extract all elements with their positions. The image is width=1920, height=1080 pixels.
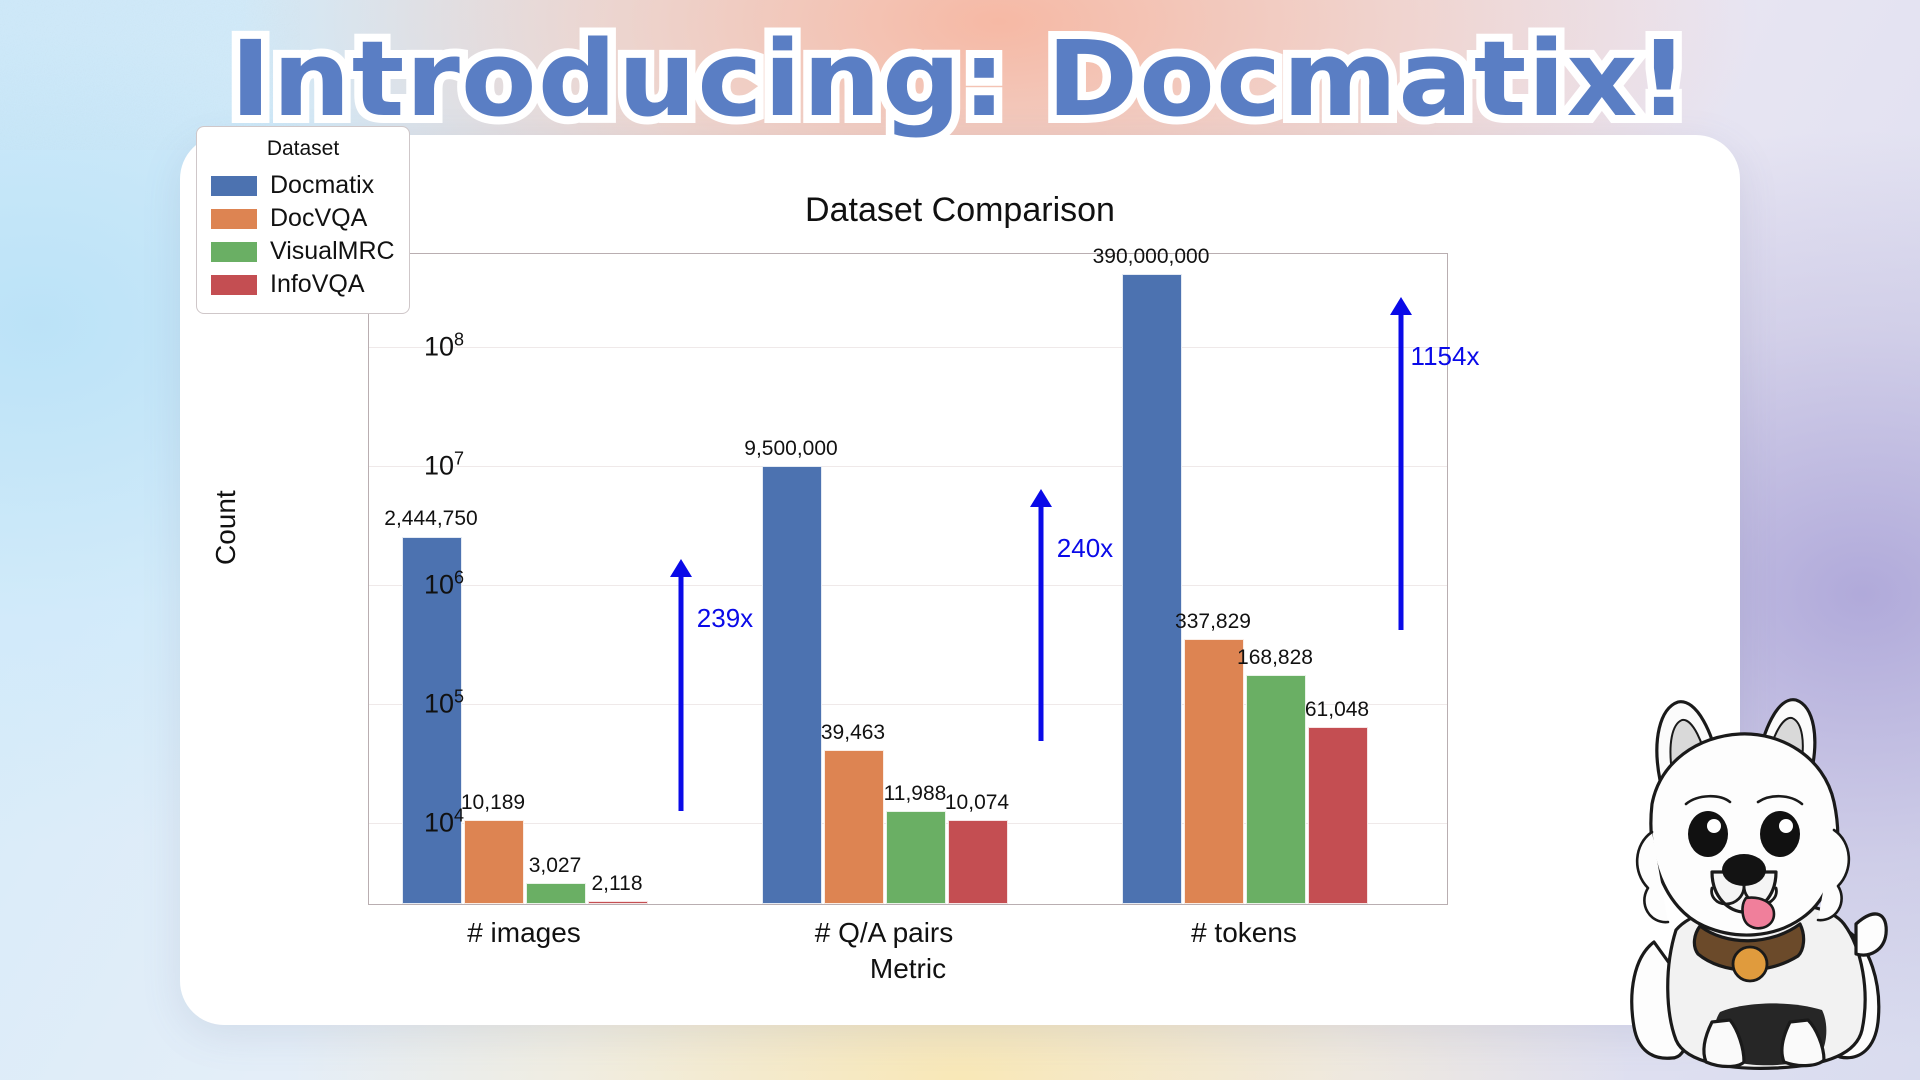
y-gridline: [369, 585, 1447, 586]
legend-swatch-icon: [211, 242, 257, 262]
bar-value-label: 2,444,750: [384, 507, 477, 531]
legend-swatch-icon: [211, 275, 257, 295]
bar-docvqa-qapairs[interactable]: [824, 750, 884, 904]
bar-docmatix-qapairs[interactable]: [762, 466, 822, 904]
chart-legend: Dataset DocmatixDocVQAVisualMRCInfoVQA: [196, 126, 410, 314]
legend-item-label: InfoVQA: [270, 270, 365, 299]
bar-value-label: 9,500,000: [744, 437, 837, 461]
bar-visualmrc-tokens[interactable]: [1246, 675, 1306, 904]
chart-title: Dataset Comparison: [180, 191, 1740, 230]
plot-area: [368, 253, 1448, 905]
y-axis-tick-label: 108: [344, 329, 464, 362]
mascot-dog-icon: [1594, 692, 1894, 1072]
legend-item-label: DocVQA: [270, 204, 367, 233]
y-gridline: [369, 466, 1447, 467]
x-axis-tick-label: # Q/A pairs: [815, 917, 954, 949]
bar-value-label: 3,027: [529, 854, 582, 878]
bar-value-label: 10,189: [461, 791, 525, 815]
chart-container: Dataset Comparison Count Metric 10410510…: [180, 135, 1740, 1025]
y-axis-tick-label: 105: [344, 686, 464, 719]
bar-value-label: 337,829: [1175, 610, 1251, 634]
page-title: Introducing: Docmatix!: [0, 18, 1920, 140]
y-axis-label: Count: [210, 490, 242, 565]
legend-item-visualmrc[interactable]: VisualMRC: [211, 235, 395, 268]
legend-item-label: Docmatix: [270, 171, 374, 200]
legend-item-label: VisualMRC: [270, 237, 395, 266]
bar-visualmrc-qapairs[interactable]: [886, 811, 946, 904]
bar-docmatix-tokens[interactable]: [1122, 274, 1182, 904]
bar-value-label: 39,463: [821, 721, 885, 745]
ratio-annotation-label: 1154x: [1411, 341, 1480, 372]
ratio-arrow-head: [1390, 297, 1412, 315]
bar-docvqa-images[interactable]: [464, 820, 524, 904]
ratio-arrow-head: [670, 559, 692, 577]
bar-value-label: 2,118: [592, 872, 643, 896]
y-gridline: [369, 347, 1447, 348]
bar-value-label: 168,828: [1237, 646, 1313, 670]
legend-item-infovqa[interactable]: InfoVQA: [211, 268, 395, 301]
bar-docvqa-tokens[interactable]: [1184, 639, 1244, 904]
poster-canvas: Introducing: Docmatix! Dataset Compariso…: [0, 0, 1920, 1080]
bar-infovqa-tokens[interactable]: [1308, 727, 1368, 904]
x-axis-tick-label: # tokens: [1191, 917, 1297, 949]
bar-value-label: 61,048: [1305, 698, 1369, 722]
legend-item-docmatix[interactable]: Docmatix: [211, 169, 395, 202]
x-axis-tick-label: # images: [467, 917, 581, 949]
ratio-arrow-head: [1030, 489, 1052, 507]
bar-visualmrc-images[interactable]: [526, 883, 586, 904]
ratio-annotation-label: 239x: [697, 603, 753, 634]
ratio-arrow-line: [1399, 313, 1404, 630]
legend-swatch-icon: [211, 176, 257, 196]
bar-value-label: 390,000,000: [1093, 245, 1210, 269]
legend-item-docvqa[interactable]: DocVQA: [211, 202, 395, 235]
bar-value-label: 10,074: [945, 791, 1009, 815]
y-axis-tick-label: 104: [344, 805, 464, 838]
legend-title: Dataset: [211, 137, 395, 161]
bar-infovqa-qapairs[interactable]: [948, 820, 1008, 904]
bar-infovqa-images[interactable]: [588, 901, 648, 904]
y-axis-tick-label: 106: [344, 567, 464, 600]
y-axis-tick-label: 107: [344, 448, 464, 481]
legend-swatch-icon: [211, 209, 257, 229]
x-axis-label: Metric: [368, 953, 1448, 985]
bar-value-label: 11,988: [884, 782, 947, 806]
ratio-arrow-line: [679, 575, 684, 810]
ratio-arrow-line: [1039, 505, 1044, 740]
ratio-annotation-label: 240x: [1057, 533, 1113, 564]
